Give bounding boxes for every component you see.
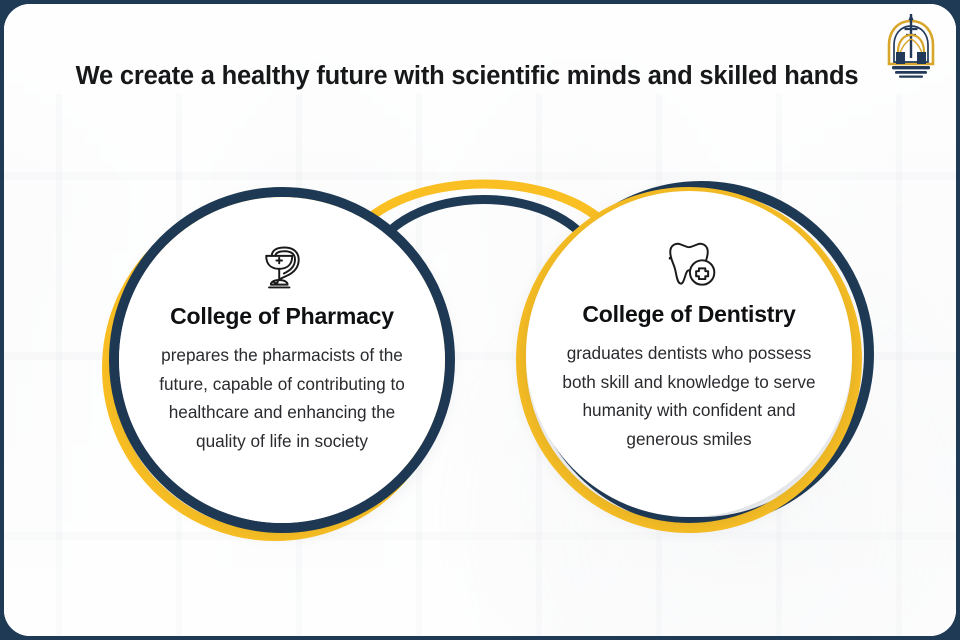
pharmacy-card-body: prepares the pharmacists of the future, … bbox=[148, 341, 416, 455]
pharmacy-card-title: College of Pharmacy bbox=[170, 303, 394, 330]
card-college-of-pharmacy[interactable]: College of Pharmacy prepares the pharmac… bbox=[102, 187, 468, 553]
dentistry-card-title: College of Dentistry bbox=[582, 301, 795, 328]
dentistry-card-face[interactable]: College of Dentistry graduates dentists … bbox=[526, 191, 852, 517]
pharmacy-card-face[interactable]: College of Pharmacy prepares the pharmac… bbox=[119, 197, 445, 523]
tooth-with-medical-cross-icon bbox=[658, 237, 720, 293]
card-college-of-dentistry[interactable]: College of Dentistry graduates dentists … bbox=[512, 171, 878, 537]
dentistry-card-body: graduates dentists who possess both skil… bbox=[550, 339, 828, 453]
slide-frame: We create a healthy future with scientif… bbox=[0, 0, 960, 640]
slide-panel: We create a healthy future with scientif… bbox=[4, 4, 956, 636]
university-crest-logo bbox=[880, 12, 942, 80]
bowl-of-hygieia-icon bbox=[251, 239, 313, 295]
page-title: We create a healthy future with scientif… bbox=[4, 62, 956, 91]
